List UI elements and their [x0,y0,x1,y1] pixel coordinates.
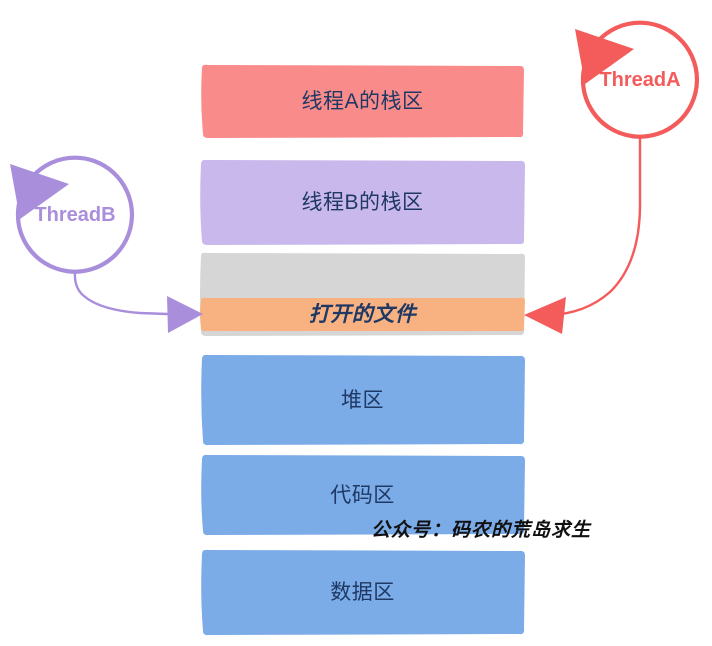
connector-thread-a-to-open-files [524,138,640,334]
thread-a-arrowhead-icon [524,297,566,334]
thread-a-stack-label: 线程A的栈区 [301,91,423,112]
heap-area-label: 堆区 [341,390,384,411]
data-area-label: 数据区 [330,582,395,603]
block-label-thread-a-stack: 线程A的栈区 [200,65,525,138]
thread-a-connector-line [549,138,640,315]
thread-a-loop [575,23,697,137]
code-area-label: 代码区 [330,485,395,506]
block-label-data-area: 数据区 [200,550,525,635]
thread-b-arrowhead-icon [167,296,203,333]
watermark-text: 公众号：码农的荒岛求生 [371,515,591,542]
open-files-label: 打开的文件 [309,304,417,325]
thread-b-stack-label: 线程B的栈区 [301,192,423,213]
connector-thread-b-to-open-files [75,272,203,333]
block-label-open-files: 打开的文件 [200,298,525,331]
thread-b-loop [10,158,132,272]
block-label-thread-b-stack: 线程B的栈区 [200,160,525,245]
thread-b-connector-line [75,272,167,314]
block-label-heap-area: 堆区 [200,355,525,445]
